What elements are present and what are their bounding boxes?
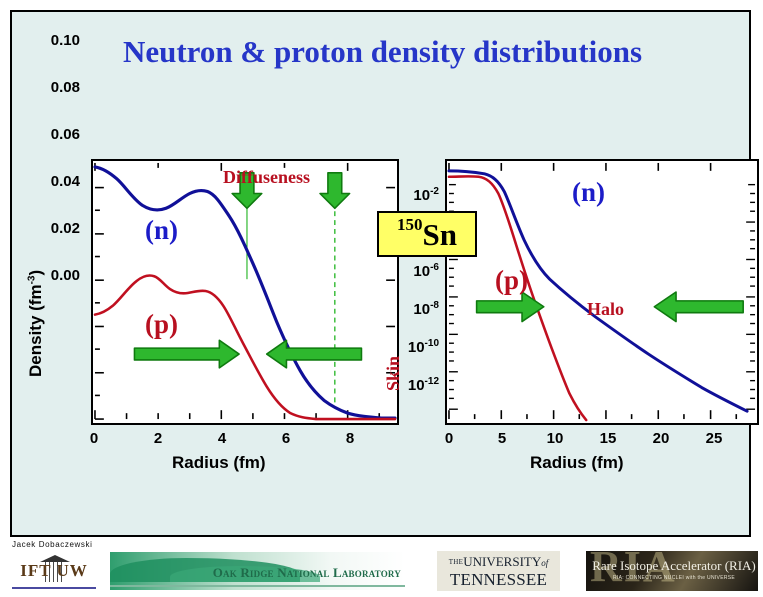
chart-left-linear-density: (n) (p) Diffuseness Skin xyxy=(91,159,399,425)
iftuw-label: IFT UW xyxy=(12,561,96,581)
left-plot-canvas xyxy=(93,161,397,423)
utk-line-2: TENNESSEE xyxy=(437,571,560,589)
right-xaxis-title: Radius (fm) xyxy=(530,453,624,473)
right-proton-label: (p) xyxy=(495,265,528,296)
left-ytick-5: 0.10 xyxy=(28,32,80,49)
skin-arrow-left xyxy=(267,340,362,368)
left-ytick-1: 0.02 xyxy=(28,220,80,237)
left-yaxis-title: Density (fm-3) xyxy=(26,270,46,377)
skin-arrow-right xyxy=(134,340,239,368)
isotope-symbol: Sn xyxy=(423,219,457,250)
left-ytick-2: 0.04 xyxy=(28,173,80,190)
left-neutron-label: (n) xyxy=(145,215,178,246)
right-ytick-0: 10-2 xyxy=(397,186,439,204)
right-ytick-1: 10-6 xyxy=(397,262,439,280)
left-xtick-0: 0 xyxy=(88,430,100,447)
utk-university: UNIVERSITY xyxy=(463,554,541,569)
slide-root: Neutron & proton density distributions xyxy=(0,0,763,597)
ria-title: Rare Isotope Accelerator (RIA) xyxy=(590,558,758,574)
proton-curve xyxy=(95,275,395,419)
left-ytick-3: 0.06 xyxy=(28,126,80,143)
diffuseness-label: Diffuseness xyxy=(223,167,310,188)
left-xtick-2: 4 xyxy=(216,430,228,447)
right-x-ticks-top xyxy=(449,163,711,171)
right-neutron-label: (n) xyxy=(572,177,605,208)
footer-logos: Jacek Dobaczewski IFT UW Oak Ridge Natio… xyxy=(0,537,763,597)
ornl-label: Oak Ridge National Laboratory xyxy=(213,565,401,581)
diffuseness-arrow-right xyxy=(320,173,350,208)
right-x-ticks xyxy=(449,410,736,419)
iftuw-logo: IFT UW xyxy=(12,553,96,589)
left-xaxis-title: Radius (fm) xyxy=(172,453,266,473)
isotope-mass-number: 150 xyxy=(397,216,423,233)
right-xtick-4: 20 xyxy=(650,430,672,447)
right-xtick-3: 15 xyxy=(597,430,619,447)
author-name: Jacek Dobaczewski xyxy=(12,540,92,549)
utk-the: THE xyxy=(449,558,464,566)
halo-label: Halo xyxy=(587,299,624,320)
left-y-ticks xyxy=(95,188,104,419)
utk-line-1: THEUNIVERSITYof xyxy=(437,554,560,571)
halo-arrow-left xyxy=(654,292,743,322)
right-ytick-2: 10-8 xyxy=(397,300,439,318)
chart-right-log-density: (n) (p) Halo xyxy=(445,159,759,425)
isotope-badge: 150Sn xyxy=(377,211,477,257)
right-ytick-3: 10-10 xyxy=(392,338,439,356)
utk-of: of xyxy=(541,558,548,568)
left-yaxis-title-exp: -3 xyxy=(26,276,37,285)
right-ytick-4: 10-12 xyxy=(392,376,439,394)
left-yaxis-title-main: Density (fm xyxy=(26,284,45,377)
left-ytick-4: 0.08 xyxy=(28,79,80,96)
right-xtick-1: 5 xyxy=(494,430,510,447)
right-y-minor-ticks-right xyxy=(746,185,755,410)
ornl-logo: Oak Ridge National Laboratory xyxy=(110,552,405,590)
ornl-rule xyxy=(110,585,405,587)
ria-subtitle: RIA: CONNECTING NUCLEI with the UNIVERSE xyxy=(590,575,758,581)
ria-logo: RIA Rare Isotope Accelerator (RIA) RIA: … xyxy=(586,551,758,591)
left-xtick-1: 2 xyxy=(152,430,164,447)
left-xtick-4: 8 xyxy=(344,430,356,447)
slide-panel: Neutron & proton density distributions xyxy=(10,10,751,537)
right-xtick-2: 10 xyxy=(544,430,566,447)
right-xtick-0: 0 xyxy=(441,430,457,447)
left-xtick-3: 6 xyxy=(280,430,292,447)
page-title: Neutron & proton density distributions xyxy=(12,34,753,70)
left-x-ticks xyxy=(95,410,379,419)
utk-logo: THEUNIVERSITYof TENNESSEE xyxy=(437,551,560,591)
right-xtick-5: 25 xyxy=(703,430,725,447)
left-proton-label: (p) xyxy=(145,309,178,340)
left-yaxis-title-close: ) xyxy=(26,270,45,276)
